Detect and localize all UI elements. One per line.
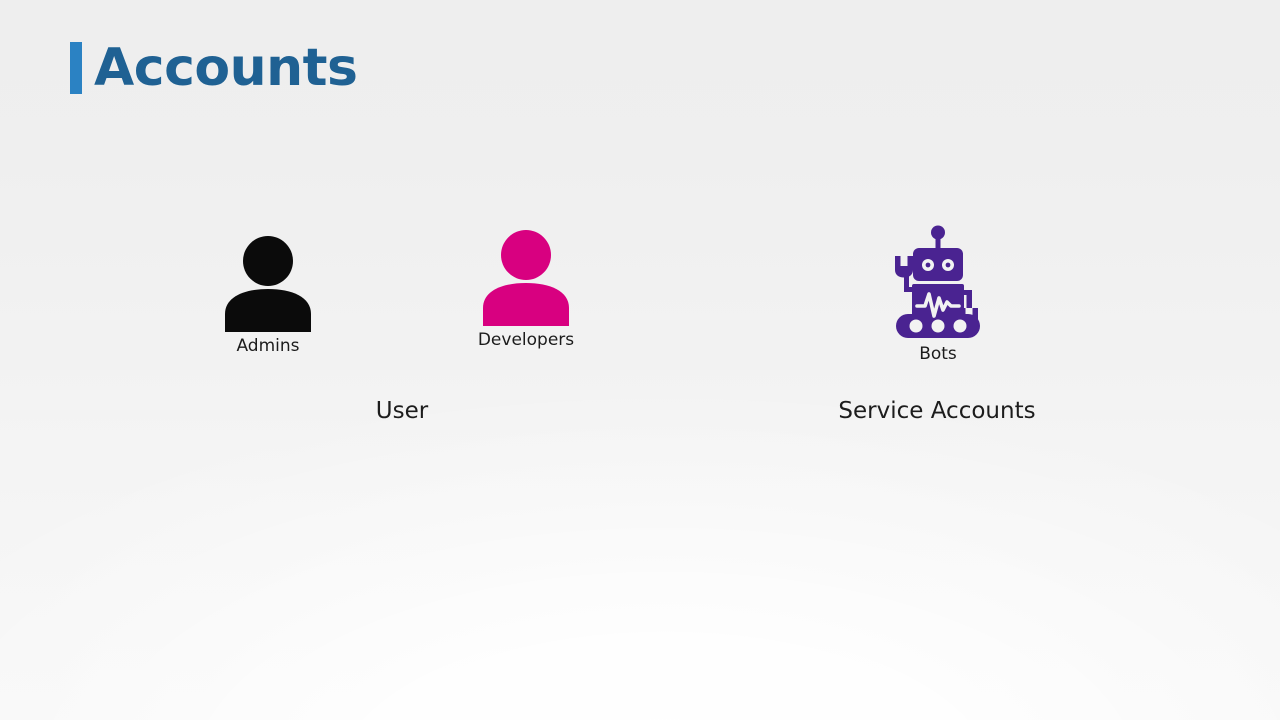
item-label-developers: Developers [426, 330, 626, 350]
item-developers[interactable]: Developers [426, 230, 626, 350]
item-label-admins: Admins [168, 336, 368, 356]
title-accent-bar [70, 42, 82, 94]
robot-icon [888, 224, 988, 338]
item-label-bots: Bots [838, 344, 1038, 364]
person-icon [222, 236, 314, 332]
slide-canvas: Accounts Admins Developers [0, 0, 1280, 720]
item-admins[interactable]: Admins [168, 236, 368, 356]
item-bots[interactable]: Bots [838, 224, 1038, 364]
page-title: Accounts [70, 42, 357, 94]
group-label-service-accounts: Service Accounts [700, 398, 1174, 424]
group-label-user: User [0, 398, 804, 424]
person-icon [480, 230, 572, 326]
group-service-accounts: Service Accounts [700, 398, 1174, 424]
group-user: User [0, 398, 804, 424]
page-title-text: Accounts [94, 42, 357, 94]
